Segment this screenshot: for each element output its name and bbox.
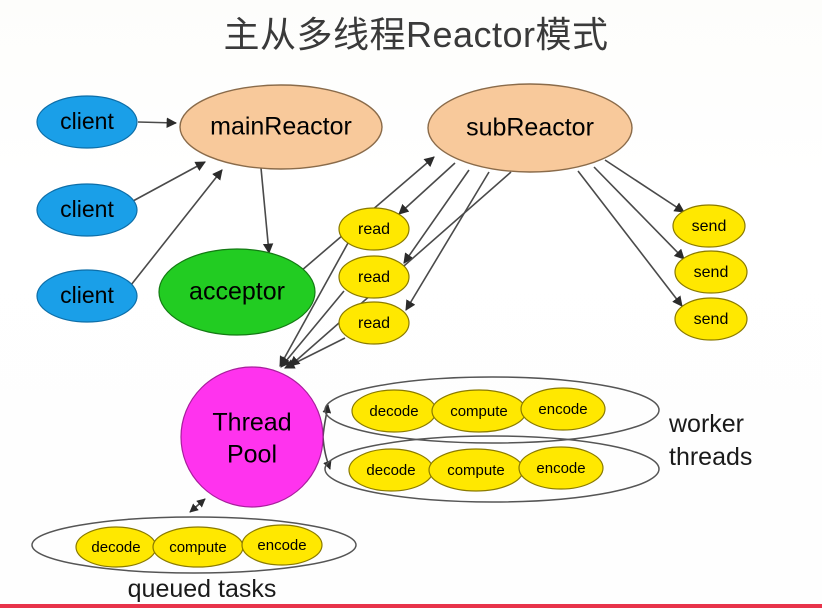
sub-reactor-label: subReactor [466,114,594,142]
task-node-q-compute[interactable]: compute [153,527,243,567]
edge-subreactor-read1 [399,163,455,214]
task-node-w2-encode[interactable]: encode [519,447,603,489]
read-node-1[interactable]: read [339,208,409,250]
edge-client2-mainreactor [133,162,205,201]
w1-encode-label: encode [538,401,587,418]
queued-tasks-label: queued tasks [128,575,277,603]
acceptor-node[interactable]: acceptor [159,249,315,335]
send-node-3[interactable]: send [675,298,747,340]
thread-pool-label-line1: Thread [212,409,291,437]
client-node-2[interactable]: client [37,184,137,236]
queued-tasks-group: decode compute encode [76,525,322,567]
reactor-pattern-diagram: client client client mainReactor subReac… [0,0,822,608]
client-node-1[interactable]: client [37,96,137,148]
client-2-label: client [60,196,114,222]
read-node-2[interactable]: read [339,256,409,298]
send-1-label: send [692,218,727,235]
edge-mainreactor-acceptor [261,168,269,253]
edge-threadpool-queuedtasks [190,499,205,512]
client-3-label: client [60,282,114,308]
task-node-q-decode[interactable]: decode [76,527,156,567]
q-decode-label: decode [91,539,140,556]
edge-subreactor-send1 [605,160,684,212]
w1-compute-label: compute [450,403,508,420]
send-node-1[interactable]: send [673,205,745,247]
worker-row-2: decode compute encode [349,447,603,491]
edge-subreactor-send3 [578,171,682,306]
w1-decode-label: decode [369,403,418,420]
main-reactor-label: mainReactor [210,113,352,141]
diagram-canvas: 主从多线程Reactor模式 [0,0,822,608]
send-node-2[interactable]: send [675,251,747,293]
main-reactor-node[interactable]: mainReactor [180,85,382,169]
task-node-w2-decode[interactable]: decode [349,449,433,491]
worker-threads-label-line1: worker [668,410,744,438]
task-node-w1-encode[interactable]: encode [521,388,605,430]
client-node-3[interactable]: client [37,270,137,322]
client-1-label: client [60,108,114,134]
q-encode-label: encode [257,537,306,554]
w2-encode-label: encode [536,460,585,477]
edge-client1-mainreactor [138,122,176,123]
sub-reactor-node[interactable]: subReactor [428,84,632,172]
task-node-w2-compute[interactable]: compute [429,449,523,491]
thread-pool-label-line2: Pool [227,441,277,469]
thread-pool-shape[interactable] [181,367,323,507]
w2-compute-label: compute [447,462,505,479]
read-1-label: read [358,221,390,238]
edge-subreactor-send2 [594,167,684,259]
acceptor-label: acceptor [189,278,285,306]
task-node-w1-decode[interactable]: decode [352,390,436,432]
send-3-label: send [694,311,729,328]
w2-decode-label: decode [366,462,415,479]
thread-pool-node[interactable]: Thread Pool [181,367,323,507]
read-2-label: read [358,269,390,286]
bottom-accent-rule [0,604,822,608]
read-node-3[interactable]: read [339,302,409,344]
task-node-q-encode[interactable]: encode [242,525,322,565]
task-node-w1-compute[interactable]: compute [432,390,526,432]
q-compute-label: compute [169,539,227,556]
send-2-label: send [694,264,729,281]
read-3-label: read [358,315,390,332]
worker-row-1: decode compute encode [352,388,605,432]
worker-threads-label-line2: threads [669,443,752,471]
